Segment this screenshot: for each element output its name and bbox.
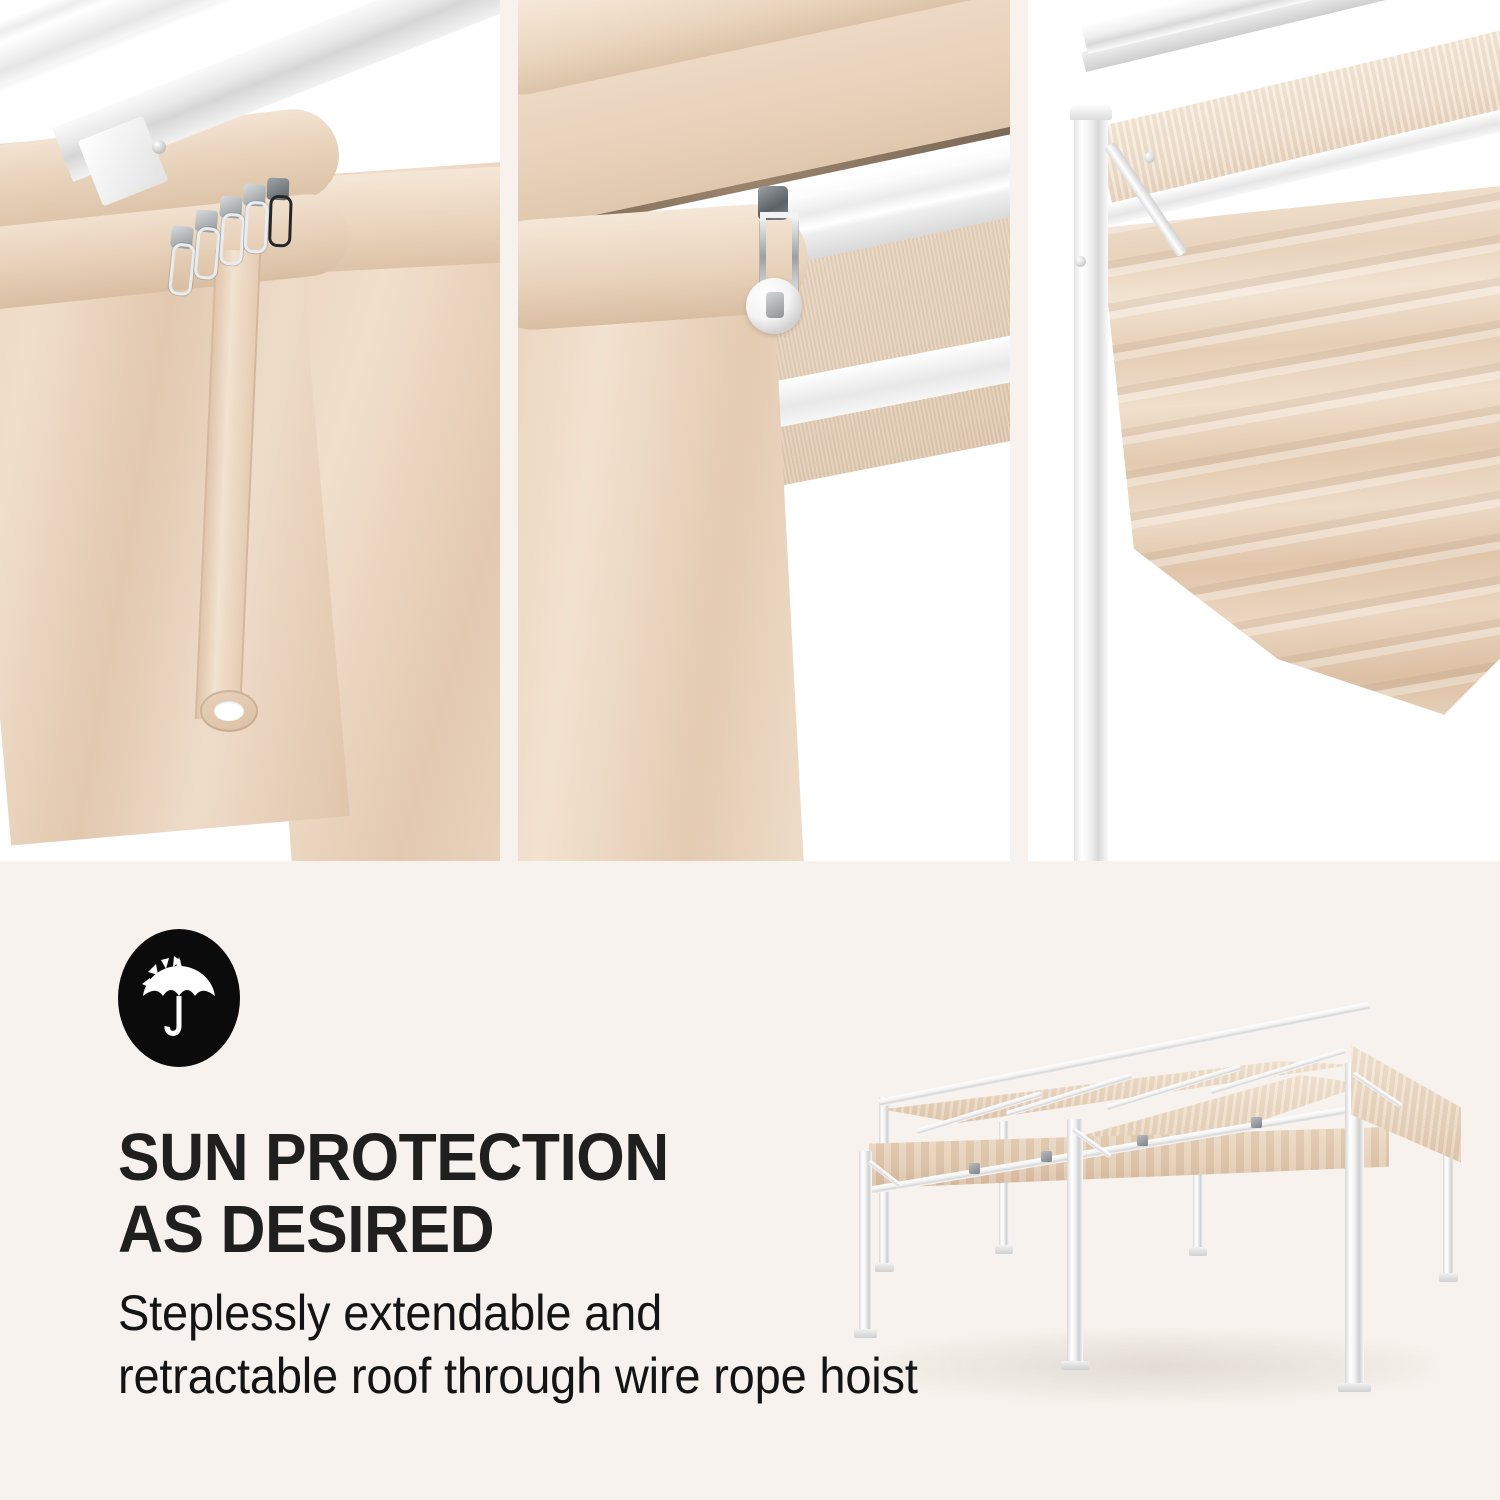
post-cap	[1070, 104, 1112, 120]
pergola-post-foot	[854, 1329, 877, 1338]
pergola-post	[859, 1151, 872, 1331]
runner-wheel-hub	[766, 292, 784, 318]
pergola-post-foot	[875, 1263, 894, 1272]
photo-strip	[0, 0, 1500, 861]
photo-panel-pergola-corner	[1028, 0, 1500, 861]
sun-umbrella-icon	[118, 929, 240, 1067]
page-title: SUN PROTECTION AS DESIRED	[118, 1122, 825, 1265]
glider-hook	[164, 225, 194, 305]
canopy-clip	[1137, 1135, 1148, 1146]
pergola-post-foot	[1189, 1247, 1207, 1256]
pergola-post	[1067, 1119, 1083, 1363]
pergola-post-foot	[1061, 1361, 1089, 1370]
glider-hook-row	[168, 178, 328, 328]
marketing-feature-page: SUN PROTECTION AS DESIRED Steplessly ext…	[0, 0, 1500, 1500]
brace-screw-top	[1144, 152, 1155, 163]
panel-divider	[1010, 0, 1028, 861]
photo-panel-rail-hooks	[0, 0, 500, 861]
strap-grommet	[200, 690, 258, 732]
feature-content-block: SUN PROTECTION AS DESIRED Steplessly ext…	[0, 861, 1500, 1500]
glider-hook	[240, 183, 266, 262]
brace-screw-bottom	[1075, 256, 1086, 267]
glider-hook	[215, 195, 242, 274]
pergola-post-foot	[1338, 1383, 1371, 1392]
canopy-clip	[969, 1163, 980, 1174]
canopy-clip	[1251, 1117, 1262, 1128]
canopy-clip	[1041, 1151, 1052, 1162]
pergola-post-foot	[995, 1245, 1013, 1254]
glider-hook	[190, 209, 219, 289]
bracket-screw	[152, 140, 166, 154]
product-render-pergola	[845, 1001, 1485, 1421]
pergola-post-foot	[1439, 1273, 1458, 1282]
photo-panel-single-hook	[518, 0, 1010, 861]
aluminium-post	[1074, 112, 1108, 861]
glider-hook-black	[265, 178, 290, 257]
panel-divider	[500, 0, 518, 861]
